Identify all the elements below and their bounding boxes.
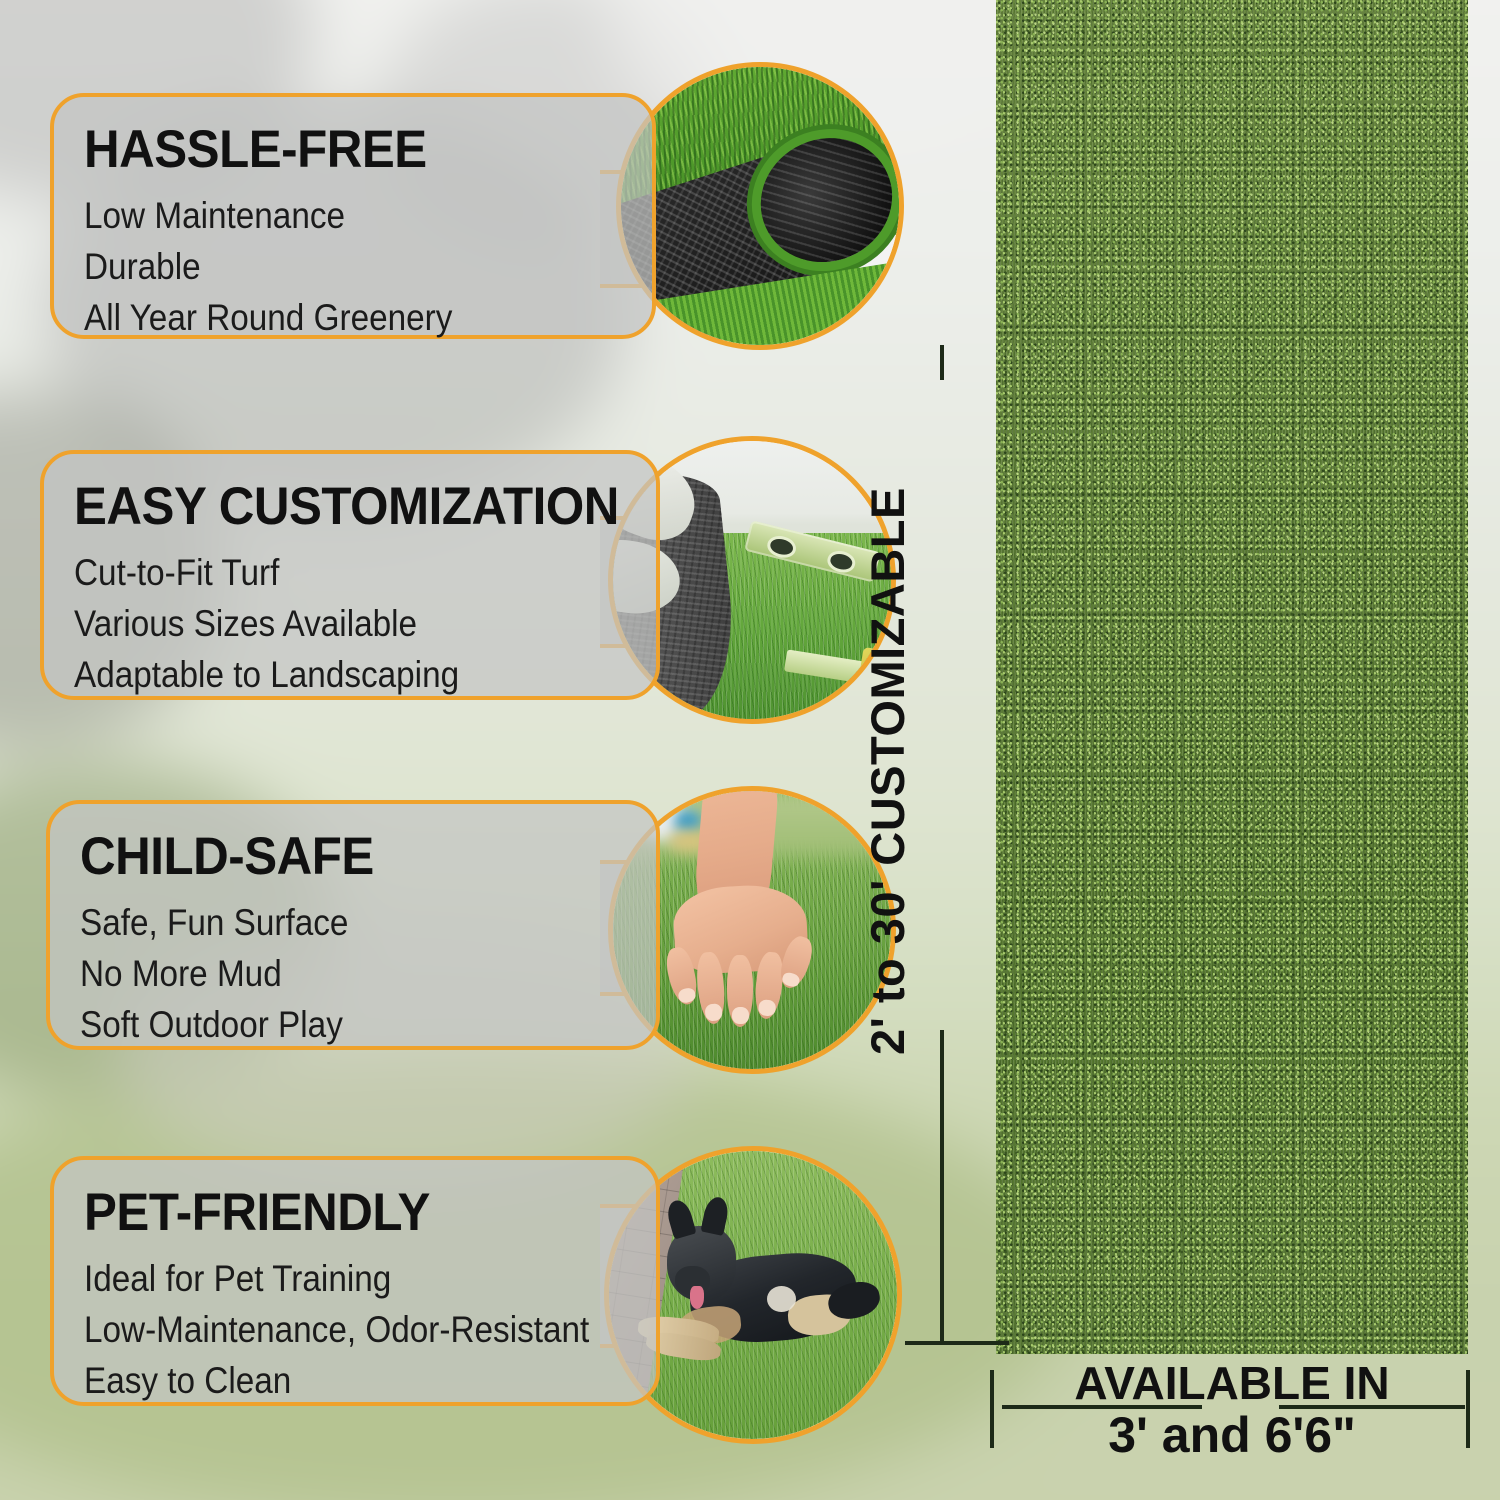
vertical-dimension-bottom-tick xyxy=(905,1341,1009,1345)
bottom-dimension-label-line1: AVAILABLE IN xyxy=(996,1360,1468,1407)
feature-bullet: Soft Outdoor Play xyxy=(80,999,571,1050)
turf-swatch-panel xyxy=(996,0,1468,1354)
bottom-dimension-label-line2: 3' and 6'6" xyxy=(996,1410,1468,1461)
feature-bullet: Easy to Clean xyxy=(84,1355,572,1406)
feature-card-child-safe[interactable]: CHILD-SAFE Safe, Fun Surface No More Mud… xyxy=(46,800,660,1050)
feature-card-pet-friendly[interactable]: PET-FRIENDLY Ideal for Pet Training Low-… xyxy=(50,1156,660,1406)
feature-title: CHILD-SAFE xyxy=(80,830,588,883)
feature-bullet: All Year Round Greenery xyxy=(84,292,568,343)
feature-bullet: Various Sizes Available xyxy=(74,598,571,649)
vertical-dimension-line-upper xyxy=(940,345,944,380)
feature-bullet: Ideal for Pet Training xyxy=(84,1253,572,1304)
feature-title: EASY CUSTOMIZATION xyxy=(74,480,587,533)
feature-bullet: Adaptable to Landscaping xyxy=(74,649,571,700)
feature-card-hassle-free[interactable]: HASSLE-FREE Low Maintenance Durable All … xyxy=(50,93,656,339)
infographic-canvas: HASSLE-FREE Low Maintenance Durable All … xyxy=(0,0,1500,1500)
horizontal-dimension-left-tick xyxy=(990,1370,994,1448)
feature-bullet: Low Maintenance xyxy=(84,190,568,241)
feature-title: PET-FRIENDLY xyxy=(84,1186,588,1239)
feature-bullet: Cut-to-Fit Turf xyxy=(74,547,571,598)
vertical-dimension-line-lower xyxy=(940,1030,944,1343)
feature-photo-1 xyxy=(616,62,904,350)
feature-title: HASSLE-FREE xyxy=(84,123,584,176)
feature-bullet: Durable xyxy=(84,241,568,292)
feature-bullet: No More Mud xyxy=(80,948,571,999)
feature-card-easy-customization[interactable]: EASY CUSTOMIZATION Cut-to-Fit Turf Vario… xyxy=(40,450,660,700)
feature-bullet: Low-Maintenance, Odor-Resistant xyxy=(84,1304,572,1355)
vertical-dimension-label: 2' to 30' CUSTOMIZABLE xyxy=(860,487,915,1055)
feature-bullet: Safe, Fun Surface xyxy=(80,897,571,948)
